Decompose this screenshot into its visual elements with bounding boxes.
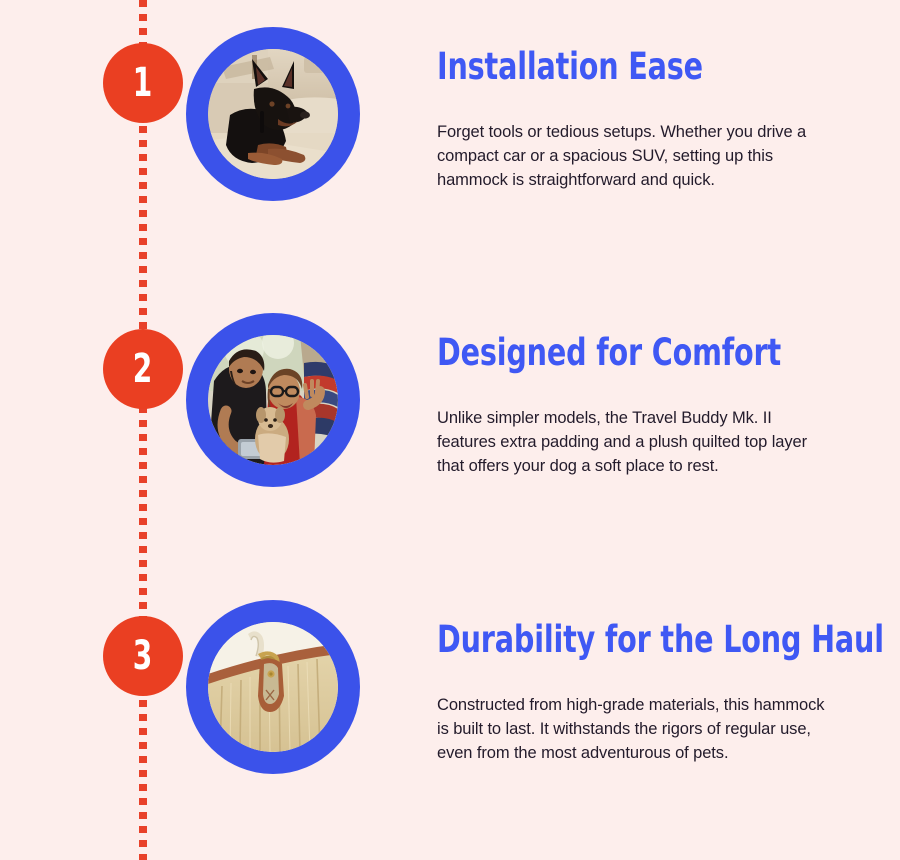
step-body-text: Constructed from high-grade materials, t…	[437, 693, 832, 765]
step-text-column: Durability for the Long Haul Constructed…	[437, 600, 837, 765]
step-title: Installation Ease	[437, 47, 781, 87]
step-title: Durability for the Long Haul	[437, 620, 781, 660]
step-photo-couple-with-dog	[208, 335, 338, 465]
step-number-badge: 3	[103, 616, 183, 696]
step-body-text: Unlike simpler models, the Travel Buddy …	[437, 406, 832, 478]
step-number-badge: 1	[103, 43, 183, 123]
step-title: Designed for Comfort	[437, 333, 781, 373]
step-text-column: Designed for Comfort Unlike simpler mode…	[437, 313, 837, 478]
step-number-label: 3	[133, 636, 153, 676]
step-image-medallion	[186, 600, 360, 774]
step-photo-dog-in-car	[208, 49, 338, 179]
timeline-dotted-line	[139, 0, 147, 860]
photo-illustration-fabric-buckle	[208, 622, 338, 752]
steps-infographic: 1	[0, 0, 900, 860]
step-body-text: Forget tools or tedious setups. Whether …	[437, 120, 832, 192]
step-number-badge: 2	[103, 329, 183, 409]
step-image-medallion	[186, 313, 360, 487]
photo-illustration-dog-car	[208, 49, 338, 179]
step-text-column: Installation Ease Forget tools or tediou…	[437, 27, 837, 192]
step-photo-quilted-fabric-strap	[208, 622, 338, 752]
step-number-label: 2	[133, 349, 153, 389]
photo-illustration-couple-selfie	[208, 335, 338, 465]
step-image-medallion	[186, 27, 360, 201]
step-number-label: 1	[133, 63, 153, 103]
